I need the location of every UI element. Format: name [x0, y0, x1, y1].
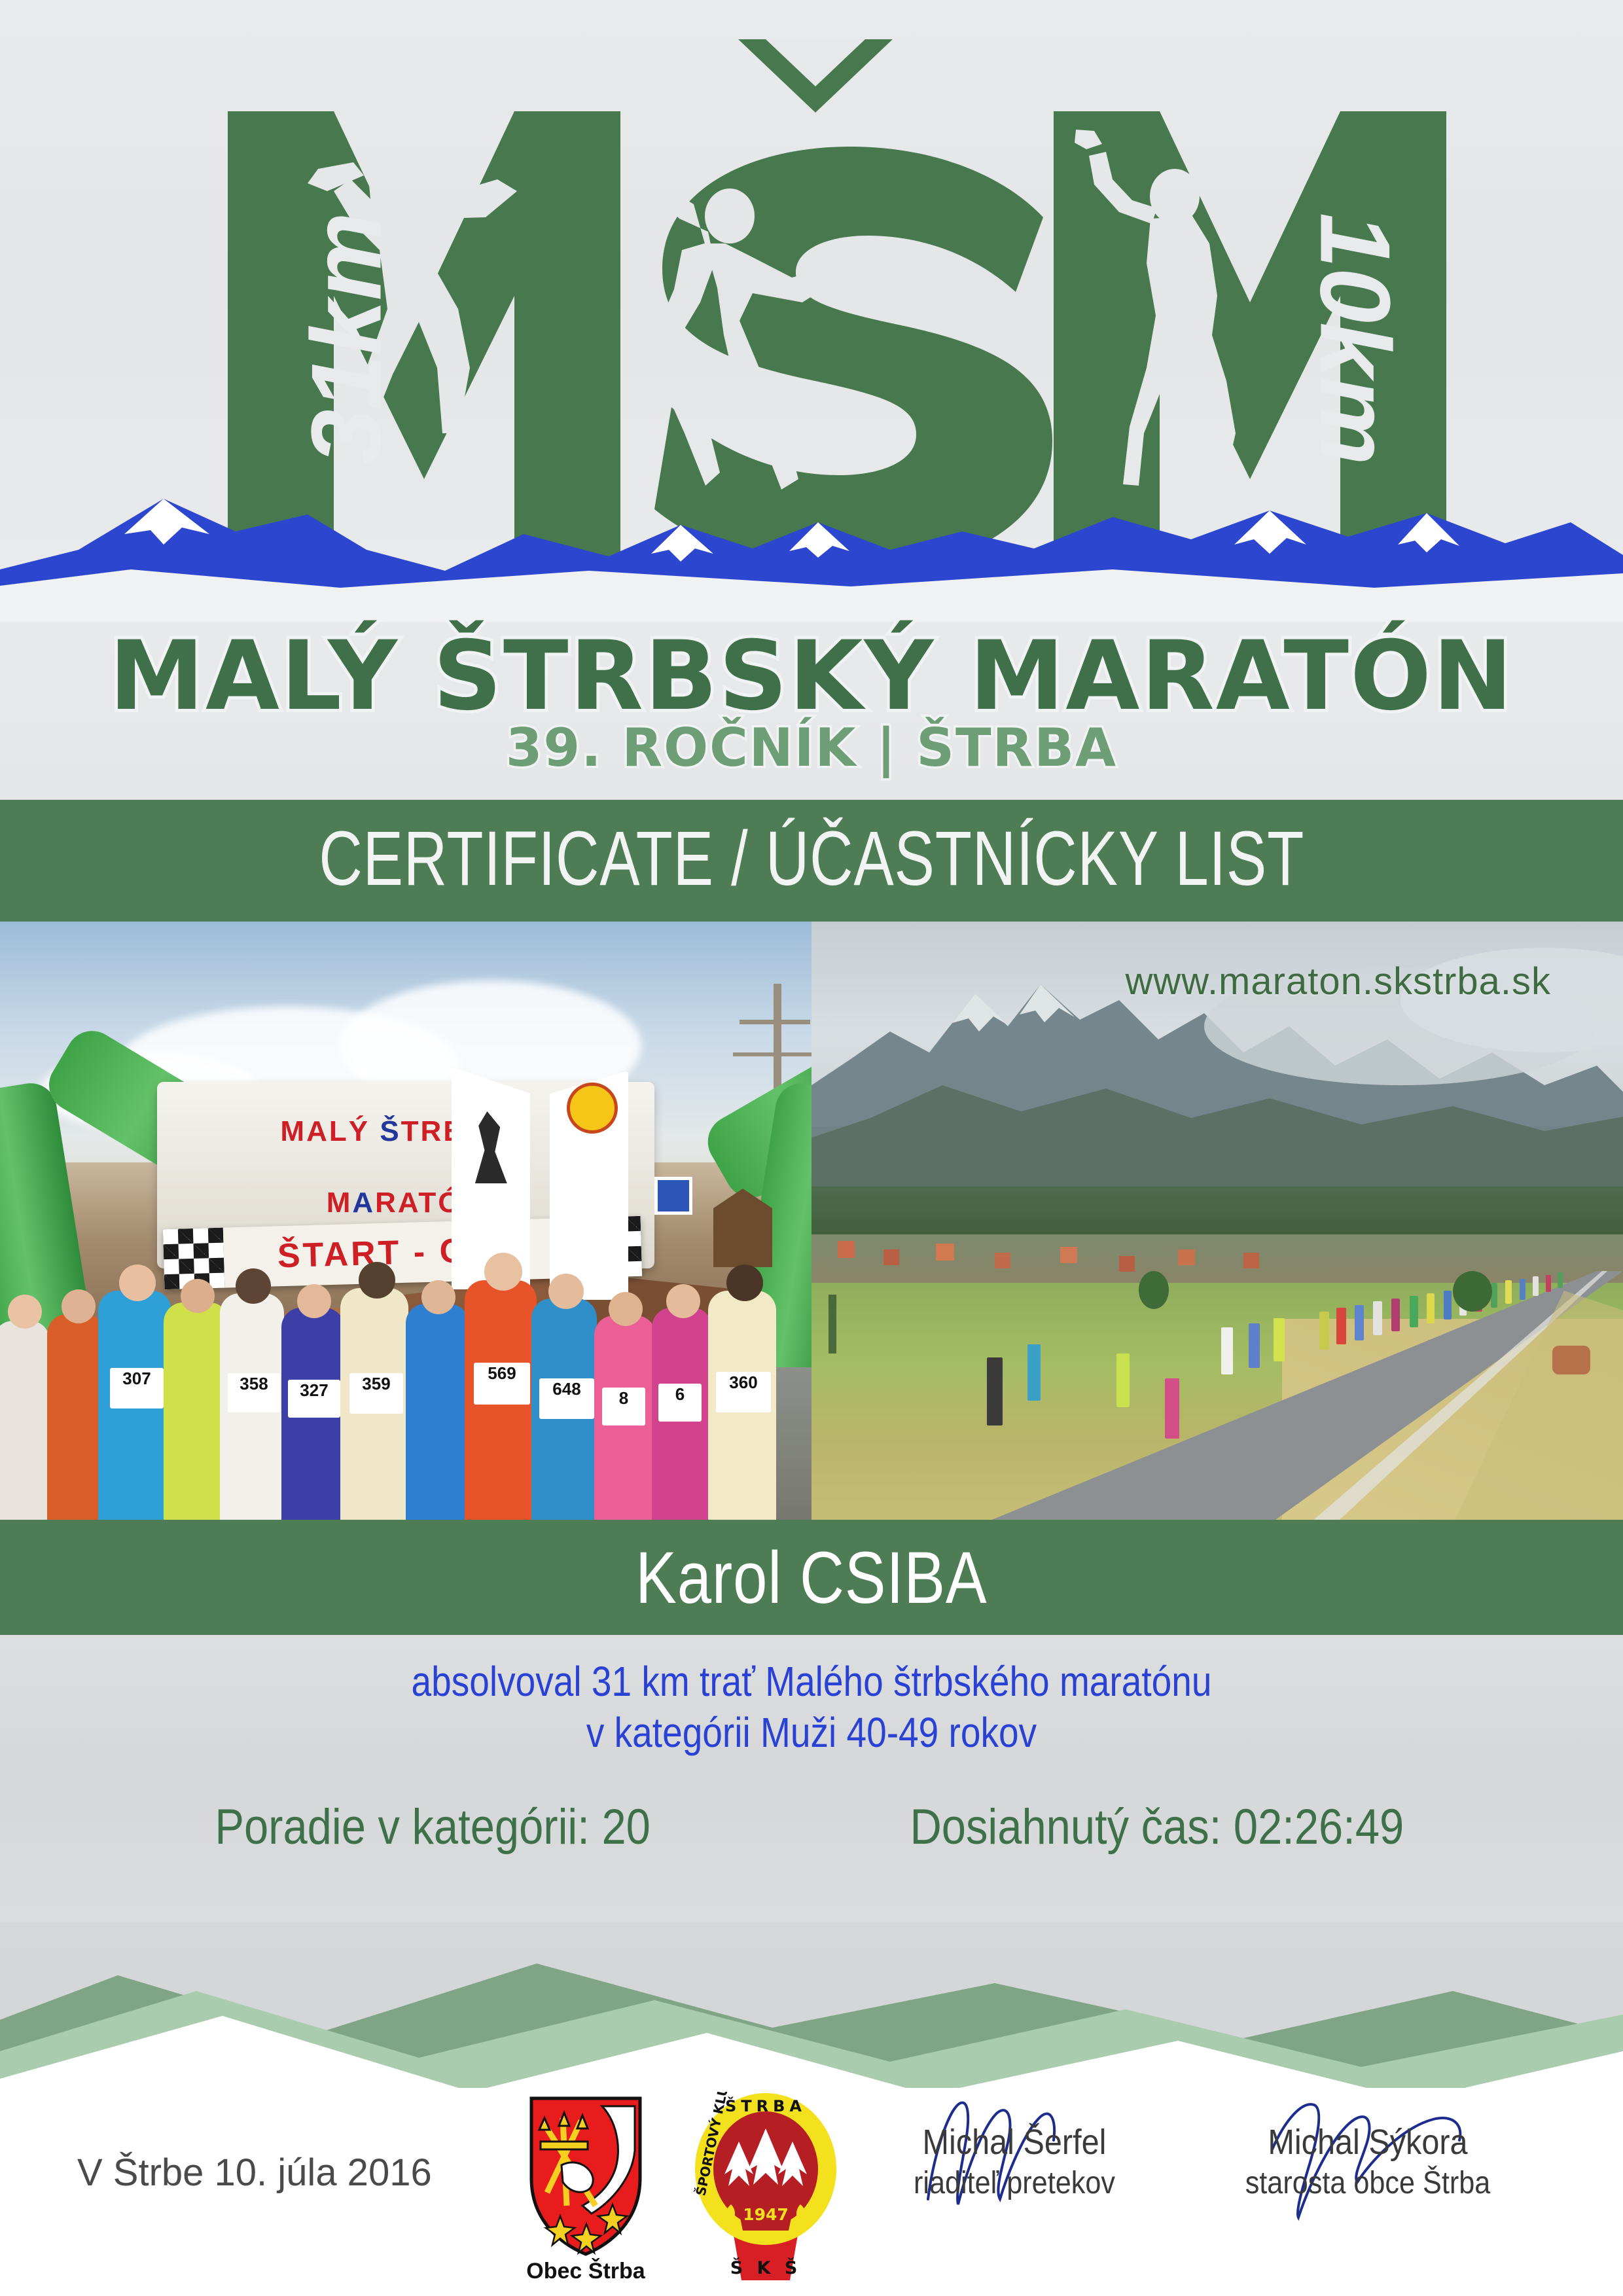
- runner: [1391, 1299, 1400, 1331]
- runner: [1221, 1327, 1233, 1374]
- runner: [1165, 1378, 1179, 1439]
- sks-strba-badge-icon: 1947 ŠTRBA Š K Š ŠPORTOVÝ KLUB: [690, 2092, 841, 2282]
- tree: [1453, 1271, 1492, 1312]
- distance-label-10km: 10km: [1298, 188, 1412, 490]
- runner: [0, 1321, 50, 1520]
- runner: [1336, 1308, 1346, 1344]
- runner-head: [236, 1268, 271, 1304]
- runner-head: [297, 1284, 331, 1318]
- sks-year: 1947: [743, 2205, 789, 2224]
- runner: [406, 1304, 469, 1520]
- runner-head: [119, 1265, 156, 1301]
- runner-bib: 648: [539, 1378, 594, 1419]
- village-house: [995, 1253, 1010, 1268]
- tree: [1139, 1271, 1169, 1309]
- runner: [1444, 1291, 1452, 1319]
- details-section: absolvoval 31 km trať Malého štrbského m…: [0, 1635, 1623, 1923]
- distance-label-31km: 31km: [290, 188, 404, 490]
- participant-name: Karol CSIBA: [635, 1535, 987, 1620]
- category-rank: Poradie v kategórii: 20: [215, 1799, 650, 1856]
- runner-head: [484, 1253, 522, 1291]
- village-house: [1178, 1249, 1195, 1265]
- runner-head: [181, 1279, 215, 1313]
- country-road: [811, 1271, 1623, 1520]
- footer: V Štrbe 10. júla 2016 Obec Štrba: [0, 2088, 1623, 2296]
- crest-sks-strba: 1947 ŠTRBA Š K Š ŠPORTOVÝ KLUB: [690, 2092, 841, 2282]
- results-row: Poradie v kategórii: 20 Dosiahnutý čas: …: [0, 1799, 1623, 1856]
- certificate-heading-band: CERTIFICATE / ÚČASTNÍCKY LIST: [0, 800, 1623, 918]
- tree: [829, 1295, 836, 1354]
- runner: [1546, 1275, 1551, 1292]
- runner: [164, 1302, 229, 1520]
- logo-area: 31km 10km MALÝ ŠTRBSKÝ MARATÓN 39. ROČNÍ…: [0, 0, 1623, 800]
- runner: [1410, 1296, 1418, 1327]
- achievement-line-2: v kategórii Muži 40-49 rokov: [114, 1708, 1510, 1757]
- signatory-name-2: Michal Sýkora: [1215, 2122, 1521, 2162]
- runner-head: [666, 1284, 700, 1318]
- signatory-role-1: riaditeľ pretekov: [861, 2165, 1168, 2201]
- pole-crossarm: [740, 1020, 810, 1024]
- photo-race-start: MALÝ ŠTRBSKÝ MARATÓN ŠTART - CIEĽ 3: [0, 922, 811, 1520]
- runner-head: [421, 1280, 455, 1314]
- sponsor-badge-icon: [567, 1083, 618, 1134]
- runner-bib: 327: [288, 1380, 340, 1418]
- crosswalk-sign-icon: [654, 1177, 692, 1215]
- village-house: [1119, 1256, 1135, 1272]
- runner-bib: 569: [474, 1363, 530, 1405]
- crest-obec-strba: Obec Štrba: [504, 2094, 668, 2284]
- runner-bib: 360: [716, 1372, 771, 1412]
- runner: [1249, 1323, 1260, 1368]
- spectator: [987, 1357, 1003, 1426]
- village-house: [936, 1244, 954, 1261]
- runner: [1505, 1280, 1512, 1304]
- place-and-date: V Štrbe 10. júla 2016: [77, 2151, 432, 2195]
- runner-head: [62, 1289, 96, 1323]
- spectator: [1027, 1344, 1041, 1401]
- runner-bib: 6: [658, 1384, 702, 1422]
- runner: [1558, 1272, 1563, 1288]
- village-house: [1060, 1247, 1077, 1263]
- runner-bib: 8: [602, 1388, 645, 1426]
- crest-obec-caption: Obec Štrba: [504, 2259, 668, 2284]
- runner-head: [548, 1274, 584, 1309]
- runner: [1491, 1283, 1497, 1308]
- village-house: [838, 1241, 855, 1258]
- obec-strba-shield-icon: [504, 2094, 668, 2258]
- village-house: [883, 1249, 899, 1265]
- runner: [1355, 1305, 1364, 1340]
- pole-crossarm: [733, 1052, 811, 1056]
- participant-name-band: Karol CSIBA: [0, 1520, 1623, 1635]
- signatory-name-1: Michal Šerfel: [861, 2122, 1168, 2162]
- runner: [1116, 1354, 1130, 1407]
- runner-bib: 358: [228, 1373, 280, 1412]
- sks-top-text: ŠTRBA: [725, 2096, 806, 2115]
- runner-head: [8, 1295, 42, 1329]
- runner: [1274, 1318, 1285, 1361]
- signatory-block-2: Michal Sýkora starosta obce Štrba: [1198, 2122, 1538, 2201]
- runner-bib: 359: [349, 1373, 403, 1414]
- photo-strip: MALÝ ŠTRBSKÝ MARATÓN ŠTART - CIEĽ 3: [0, 918, 1623, 1520]
- runner: [47, 1314, 105, 1520]
- runner: [1319, 1312, 1329, 1350]
- runner: [1520, 1279, 1525, 1300]
- sks-bottom-text: Š K Š: [730, 2257, 802, 2278]
- runner: [1533, 1276, 1539, 1296]
- achievement-line-1: absolvoval 31 km trať Malého štrbského m…: [114, 1657, 1510, 1706]
- runner-head: [609, 1292, 643, 1326]
- runner-head: [726, 1265, 763, 1301]
- certificate-heading: CERTIFICATE / ÚČASTNÍCKY LIST: [319, 814, 1304, 903]
- runner-bib: 307: [110, 1368, 164, 1408]
- runner: [1427, 1293, 1435, 1323]
- runner-head: [359, 1262, 395, 1299]
- event-subtitle: 39. ROČNÍK | ŠTRBA: [0, 717, 1623, 778]
- signatory-role-2: starosta obce Štrba: [1215, 2165, 1521, 2201]
- website-url[interactable]: www.maraton.skstrba.sk: [1125, 960, 1551, 1003]
- runner: [1373, 1301, 1382, 1335]
- event-title: MALÝ ŠTRBSKÝ MARATÓN: [0, 620, 1623, 732]
- finish-time: Dosiahnutý čas: 02:26:49: [910, 1799, 1404, 1856]
- village-house: [1243, 1253, 1259, 1268]
- photo-tatras-road: www.maraton.skstrba.sk: [811, 922, 1623, 1520]
- tatra-mountain-silhouette-icon: [0, 471, 1623, 622]
- signatory-block-1: Michal Šerfel riaditeľ pretekov: [844, 2122, 1185, 2201]
- cow: [1552, 1346, 1590, 1374]
